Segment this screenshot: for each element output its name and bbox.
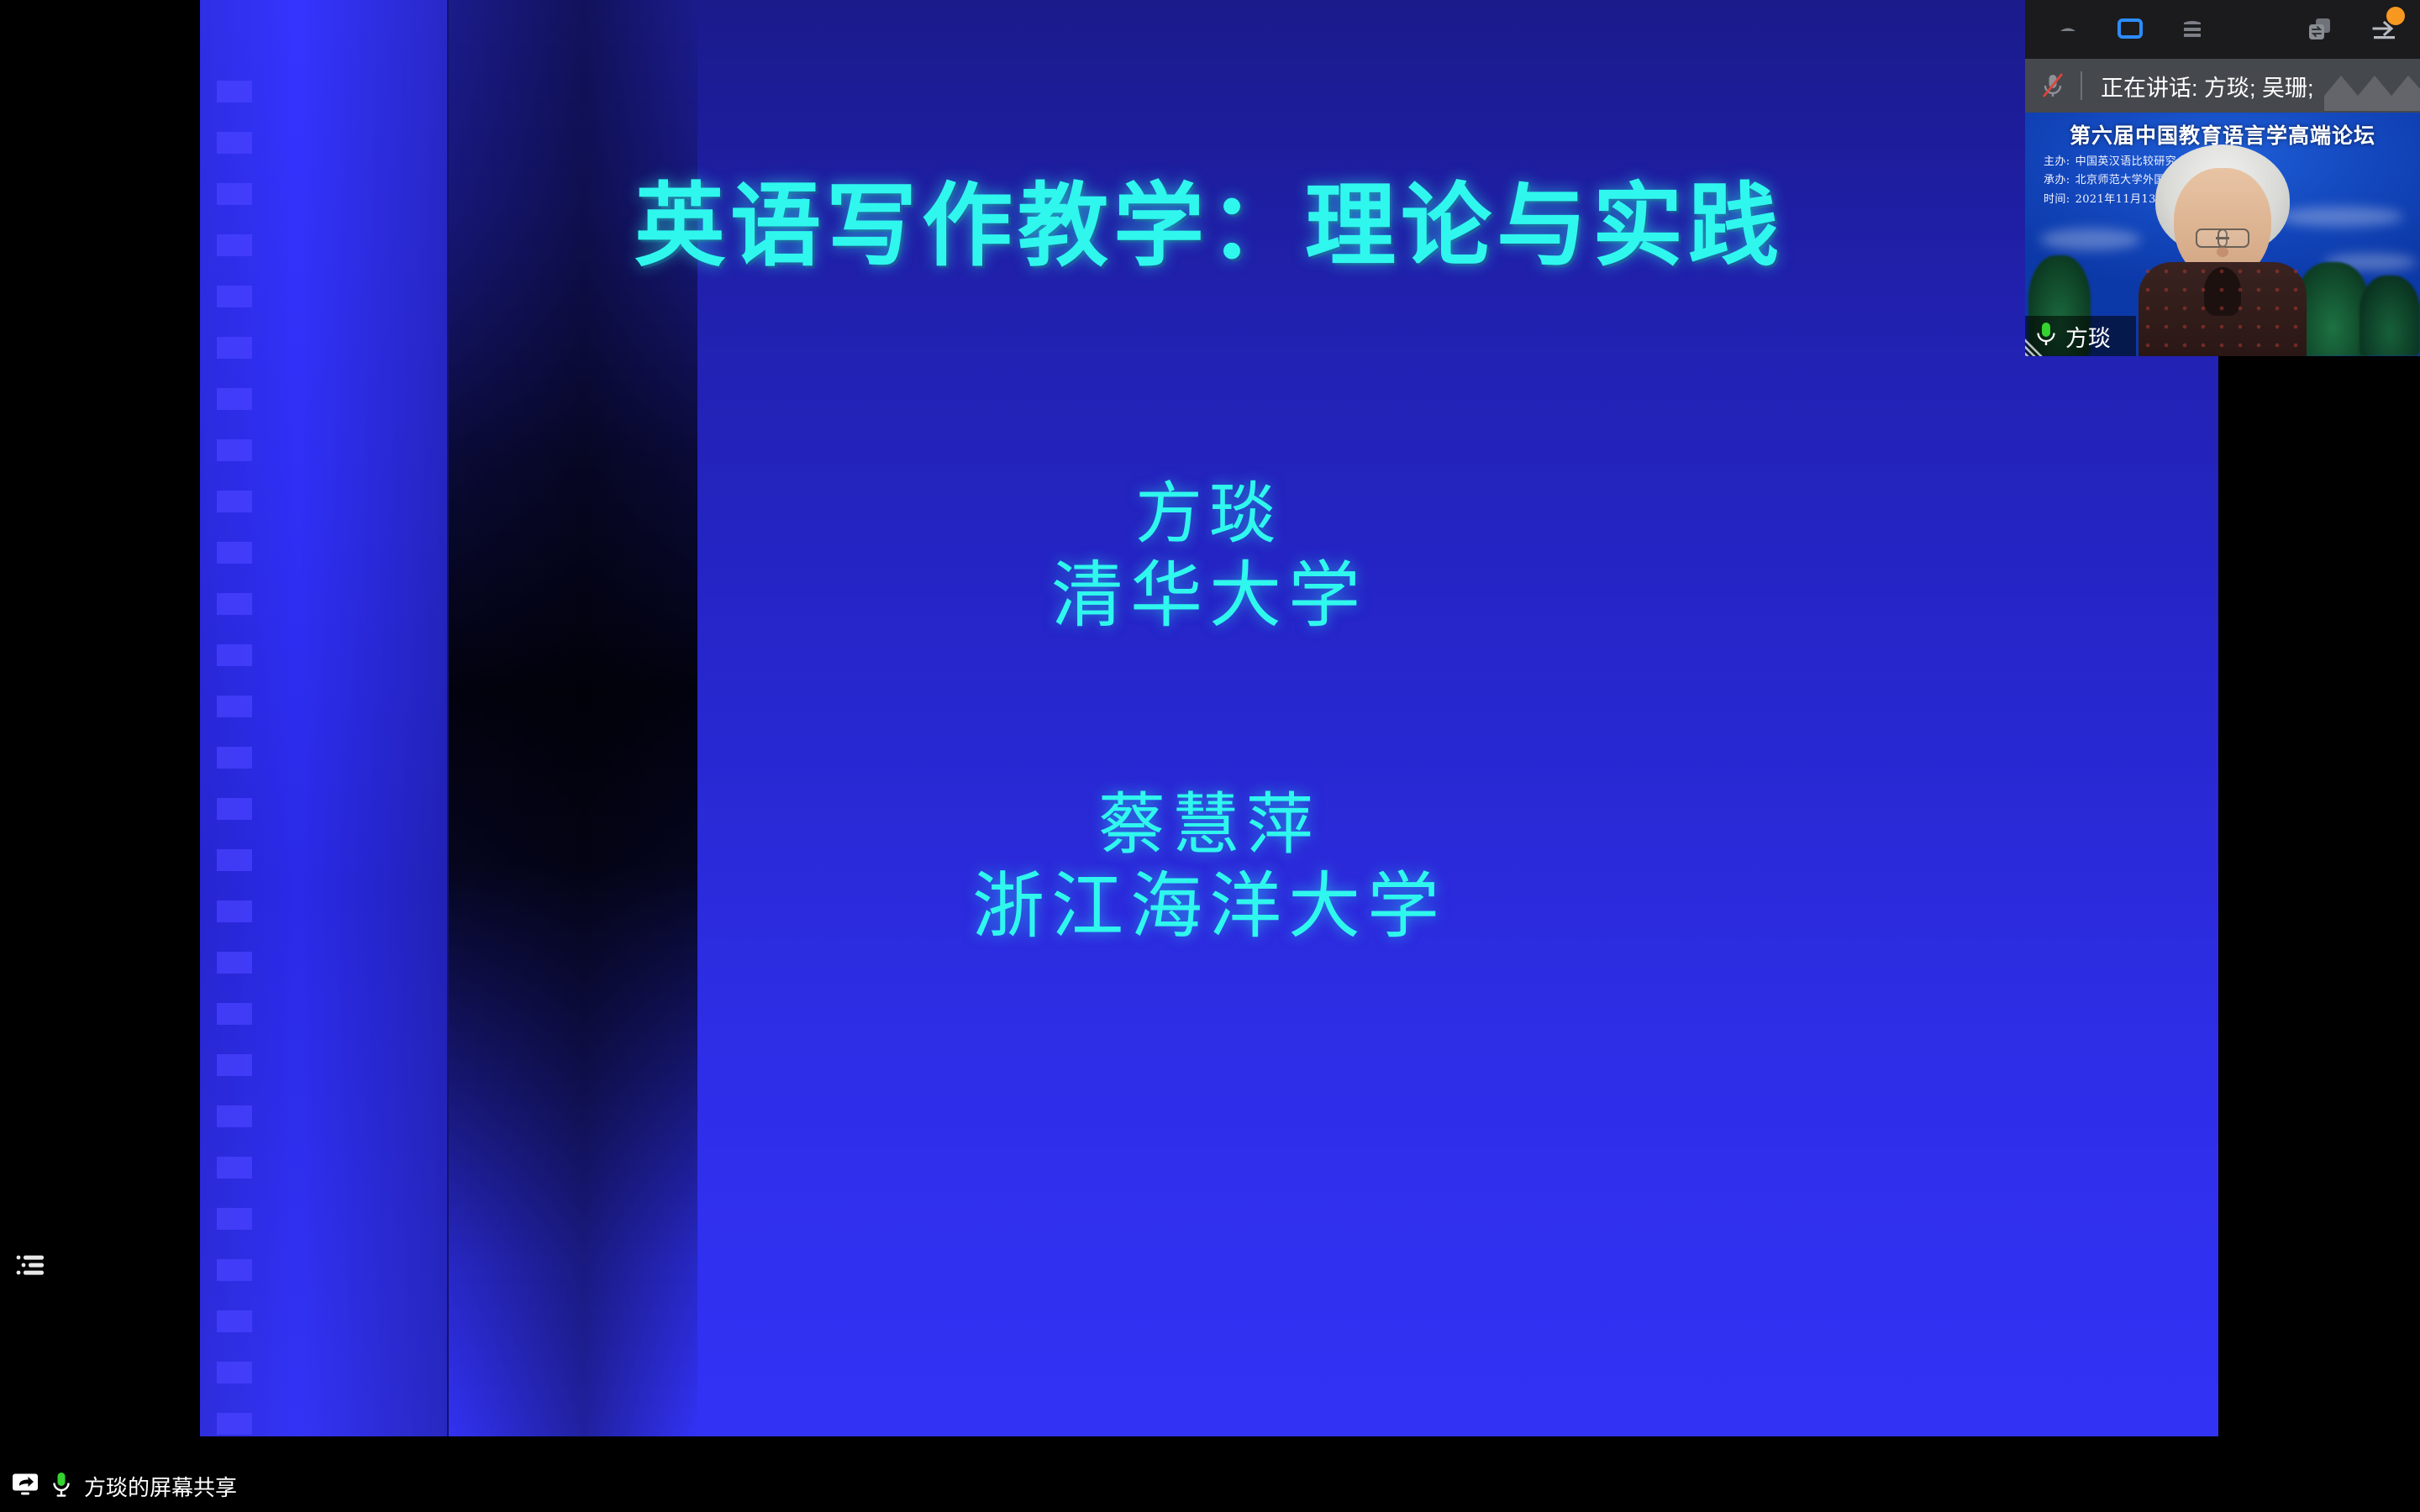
person-nose	[2217, 247, 2228, 257]
speaking-status-text: 正在讲话: 方琰; 吴珊;	[2101, 70, 2314, 102]
microphone-icon[interactable]	[50, 1471, 72, 1502]
taskbar: 方琰的屏幕共享	[0, 1460, 244, 1512]
zoom-floating-panel: 正在讲话: 方琰; 吴珊; 第六届中国教育语言学高端论坛 主办:中国英汉语比较研…	[2025, 0, 2420, 356]
outline-list-glyph	[15, 1252, 49, 1278]
minimize-glyph	[2054, 16, 2081, 43]
swap-screen-glyph	[2306, 15, 2334, 44]
exit-fullscreen-icon[interactable]	[2365, 10, 2403, 49]
detail-key-1: 承办:	[2044, 174, 2070, 186]
speaker-view-icon[interactable]	[2111, 10, 2149, 49]
zoom-view-controls	[2025, 0, 2420, 59]
presenter-1-name: 方琰	[200, 475, 2218, 554]
muted-microphone-icon[interactable]	[2025, 69, 2081, 102]
background-tree	[2296, 262, 2370, 356]
zoom-watermark-glyph	[2316, 62, 2420, 111]
gallery-view-glyph	[2178, 15, 2207, 44]
notification-dot	[2386, 7, 2405, 25]
outline-list-icon[interactable]	[8, 1242, 55, 1289]
swap-screen-icon[interactable]	[2301, 10, 2339, 49]
eyeglass-bridge	[2216, 237, 2229, 239]
minimize-icon[interactable]	[2049, 10, 2087, 49]
slide-title: 英语写作教学：理论与实践	[200, 172, 2218, 281]
background-tree	[2359, 276, 2420, 356]
divider	[2081, 71, 2082, 100]
participant-video-tile[interactable]: 第六届中国教育语言学高端论坛 主办:中国英汉语比较研究会教育语 承办:北京师范大…	[2025, 113, 2420, 356]
person-torso	[2139, 262, 2307, 356]
microphone-glyph	[50, 1471, 72, 1498]
screen-share-glyph	[12, 1473, 39, 1496]
badge-stripes-glyph	[2025, 318, 2069, 356]
screen-share-icon[interactable]	[12, 1473, 39, 1500]
detail-key-0: 主办:	[2044, 155, 2070, 168]
participant-person	[2139, 144, 2307, 356]
slide-film-strip	[217, 81, 252, 1436]
participant-name-badge: 方琰	[2025, 316, 2136, 356]
muted-microphone-glyph	[2036, 69, 2070, 102]
shared-slide: 英语写作教学：理论与实践 方琰 清华大学 蔡慧萍 浙江海洋大学	[200, 0, 2218, 1436]
speaker-view-glyph	[2116, 15, 2144, 44]
presenter-1-affiliation: 清华大学	[200, 554, 2218, 638]
screen: 英语写作教学：理论与实践 方琰 清华大学 蔡慧萍 浙江海洋大学	[0, 0, 2420, 1512]
gallery-view-icon[interactable]	[2173, 10, 2212, 49]
active-speaker-bar: 正在讲话: 方琰; 吴珊;	[2025, 59, 2420, 113]
participant-name-label: 方琰	[2065, 320, 2111, 353]
badge-stripes-icon	[2025, 318, 2069, 356]
taskbar-label: 方琰的屏幕共享	[84, 1471, 237, 1502]
presenter-2: 蔡慧萍 浙江海洋大学	[200, 785, 2218, 950]
presenter-2-name: 蔡慧萍	[200, 785, 2218, 864]
sweater-pattern	[2139, 262, 2307, 356]
zoom-watermark-icon	[2316, 62, 2420, 113]
presenter-2-affiliation: 浙江海洋大学	[200, 864, 2218, 949]
detail-key-2: 时间:	[2044, 193, 2070, 206]
presenter-1: 方琰 清华大学	[200, 475, 2218, 639]
